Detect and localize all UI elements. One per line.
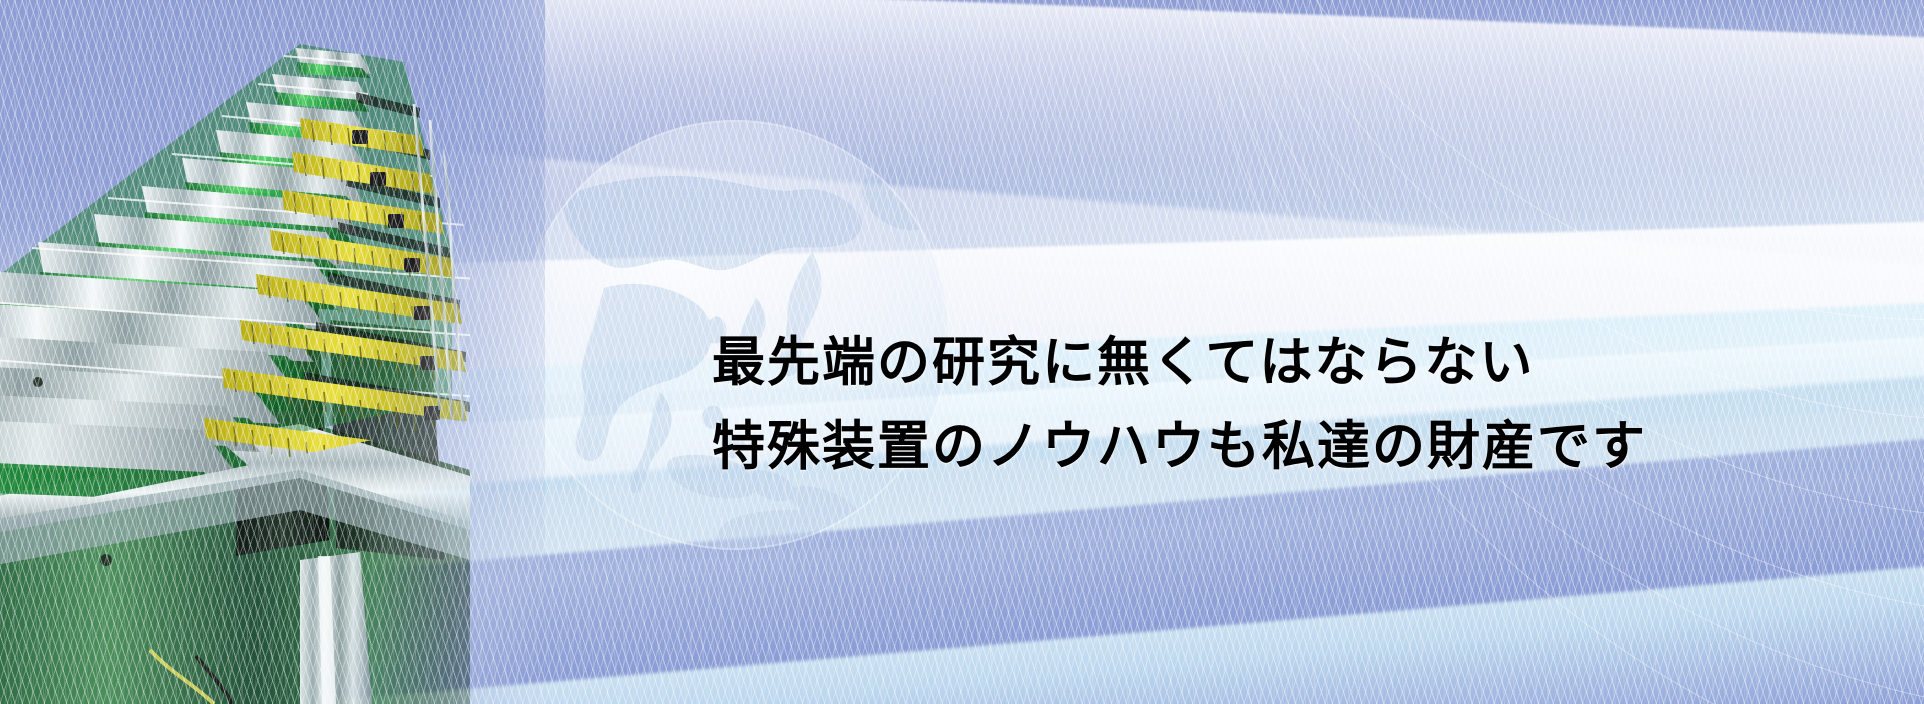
headline: 最先端の研究に無くてはならない 特殊装置のノウハウも私達の財産です <box>712 320 1647 488</box>
headline-line-1: 最先端の研究に無くてはならない <box>712 320 1647 404</box>
headline-line-2: 特殊装置のノウハウも私達の財産です <box>712 404 1647 488</box>
hero-banner: 最先端の研究に無くてはならない 特殊装置のノウハウも私達の財産です <box>0 0 1924 704</box>
